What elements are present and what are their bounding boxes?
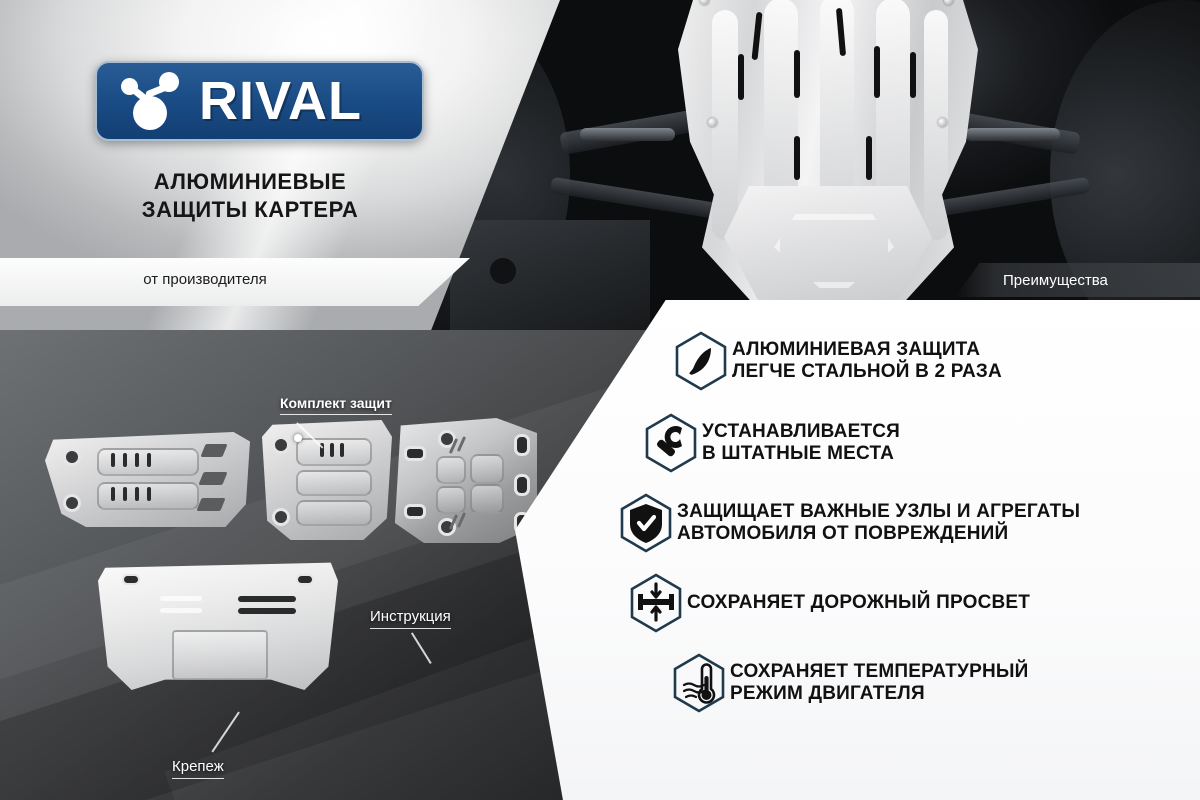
wrench-icon bbox=[640, 412, 702, 474]
advantages-tab-label: Преимущества bbox=[1003, 272, 1108, 289]
advantage-item-protection: ЗАЩИЩАЕТ ВАЖНЫЕ УЗЛЫ И АГРЕГАТЫ АВТОМОБИ… bbox=[615, 492, 1180, 554]
page-title-line2: ЗАЩИТЫ КАРТЕРА bbox=[0, 196, 500, 224]
advantage-text: АЛЮМИНИЕВАЯ ЗАЩИТА ЛЕГЧЕ СТАЛЬНОЙ В 2 РА… bbox=[732, 339, 1002, 384]
logo-wordmark: RIVAL bbox=[199, 74, 362, 128]
advantages-tab: Преимущества bbox=[955, 263, 1200, 297]
callout-kit-dot bbox=[294, 434, 302, 442]
installed-skid-plate bbox=[678, 0, 978, 320]
subtitle-band: от производителя bbox=[0, 258, 470, 306]
tie-rod bbox=[965, 128, 1060, 141]
advantages-list: АЛЮМИНИЕВАЯ ЗАЩИТА ЛЕГЧЕ СТАЛЬНОЙ В 2 РА… bbox=[620, 330, 1180, 720]
advantage-item-fitment: УСТАНАВЛИВАЕТСЯ В ШТАТНЫЕ МЕСТА bbox=[640, 412, 1180, 474]
advantage-text: СОХРАНЯЕТ ТЕМПЕРАТУРНЫЙ РЕЖИМ ДВИГАТЕЛЯ bbox=[730, 661, 1029, 706]
thermometer-icon bbox=[668, 652, 730, 714]
callout-instruction: Инструкция bbox=[370, 608, 451, 629]
advantage-item-temperature: СОХРАНЯЕТ ТЕМПЕРАТУРНЫЙ РЕЖИМ ДВИГАТЕЛЯ bbox=[668, 652, 1180, 714]
page-title-line1: АЛЮМИНИЕВЫЕ bbox=[0, 168, 500, 196]
shield-check-icon bbox=[615, 492, 677, 554]
skid-plate-middle bbox=[262, 420, 392, 540]
callout-fasteners: Крепеж bbox=[172, 758, 224, 779]
underbody-component bbox=[450, 220, 650, 330]
page-title: АЛЮМИНИЕВЫЕ ЗАЩИТЫ КАРТЕРА bbox=[0, 168, 500, 224]
skid-plate-left bbox=[45, 432, 250, 527]
leaf-icon bbox=[670, 330, 732, 392]
advantage-item-clearance: СОХРАНЯЕТ ДОРОЖНЫЙ ПРОСВЕТ bbox=[625, 572, 1180, 634]
callout-fasteners-label: Крепеж bbox=[172, 758, 224, 779]
callout-kit: Комплект защит bbox=[280, 395, 392, 415]
rival-logo: RIVAL bbox=[95, 61, 424, 141]
callout-instruction-label: Инструкция bbox=[370, 608, 451, 629]
skid-plate-right bbox=[392, 418, 537, 543]
molecule-icon bbox=[111, 70, 197, 132]
callout-kit-label: Комплект защит bbox=[280, 395, 392, 415]
subtitle-text: от производителя bbox=[0, 271, 410, 288]
advantage-text: СОХРАНЯЕТ ДОРОЖНЫЙ ПРОСВЕТ bbox=[687, 592, 1030, 614]
advantage-item-lightweight: АЛЮМИНИЕВАЯ ЗАЩИТА ЛЕГЧЕ СТАЛЬНОЙ В 2 РА… bbox=[670, 330, 1180, 392]
clearance-icon bbox=[625, 572, 687, 634]
suspension-arm bbox=[550, 177, 720, 219]
advantage-text: ЗАЩИЩАЕТ ВАЖНЫЕ УЗЛЫ И АГРЕГАТЫ АВТОМОБИ… bbox=[677, 501, 1080, 546]
skid-plate-large bbox=[98, 560, 338, 690]
tie-rod bbox=[580, 128, 675, 141]
promo-banner: Преимущества RIVAL АЛЮМИНИЕВЫЕ ЗАЩИТЫ КА… bbox=[0, 0, 1200, 800]
advantage-text: УСТАНАВЛИВАЕТСЯ В ШТАТНЫЕ МЕСТА bbox=[702, 421, 900, 466]
